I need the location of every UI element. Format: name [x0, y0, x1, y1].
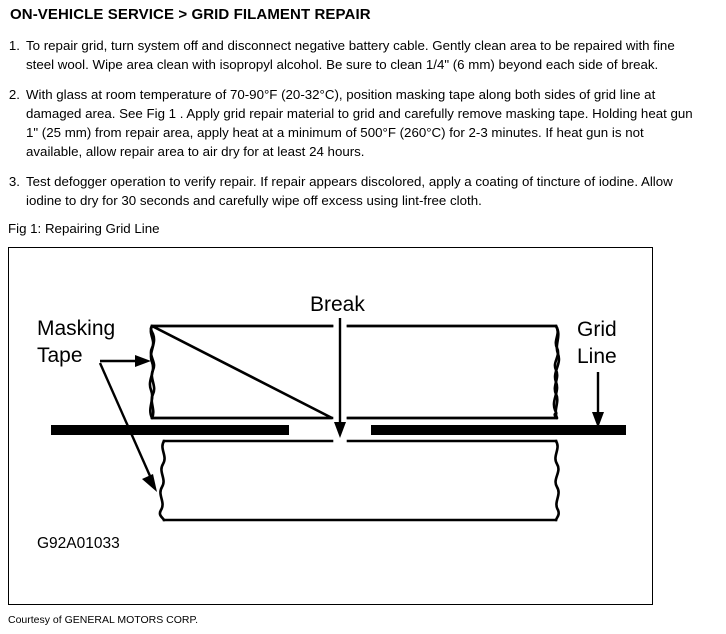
step-number: 3. [0, 172, 26, 191]
break-arrow-head [334, 422, 346, 438]
procedure-step: 3. Test defogger operation to verify rep… [0, 172, 716, 210]
grid-line-label-line2: Line [577, 345, 617, 368]
lower-tape-torn-left-edge [160, 441, 165, 520]
procedure-step: 1. To repair grid, turn system off and d… [0, 36, 716, 74]
break-label: Break [310, 293, 365, 316]
figure-frame: Break Grid Line Masking Tape G92A01033 [8, 247, 653, 605]
figure-caption: Fig 1: Repairing Grid Line [8, 220, 160, 238]
step-number: 2. [0, 85, 26, 104]
masking-tape-arrow-lower-shaft [100, 363, 150, 476]
masking-tape-arrow-lower-head [142, 474, 157, 492]
grid-line-bar-left-segment [51, 425, 289, 435]
step-number: 1. [0, 36, 26, 55]
figure-part-code: G92A01033 [37, 535, 120, 552]
procedure-steps-list: 1. To repair grid, turn system off and d… [0, 36, 716, 221]
grid-repair-diagram: Break Grid Line Masking Tape G92A01033 [9, 248, 651, 603]
masking-tape-label-line1: Masking [37, 317, 115, 340]
upper-masking-tape-outline [150, 326, 559, 418]
procedure-step: 2. With glass at room temperature of 70-… [0, 85, 716, 161]
masking-tape-label-line2: Tape [37, 344, 83, 367]
step-text: To repair grid, turn system off and disc… [26, 36, 716, 74]
page-title: ON-VEHICLE SERVICE > GRID FILAMENT REPAI… [10, 6, 371, 23]
service-document-page: ON-VEHICLE SERVICE > GRID FILAMENT REPAI… [0, 0, 726, 634]
step-text: Test defogger operation to verify repair… [26, 172, 716, 210]
grid-line-bar-right-segment [371, 425, 626, 435]
grid-line-label-line1: Grid [577, 318, 617, 341]
lower-tape-torn-right-edge [555, 441, 558, 520]
masking-tape-arrow-upper-head [135, 355, 151, 367]
step-text: With glass at room temperature of 70-90°… [26, 85, 716, 161]
footer-attribution: Courtesy of GENERAL MOTORS CORP. [8, 613, 198, 627]
